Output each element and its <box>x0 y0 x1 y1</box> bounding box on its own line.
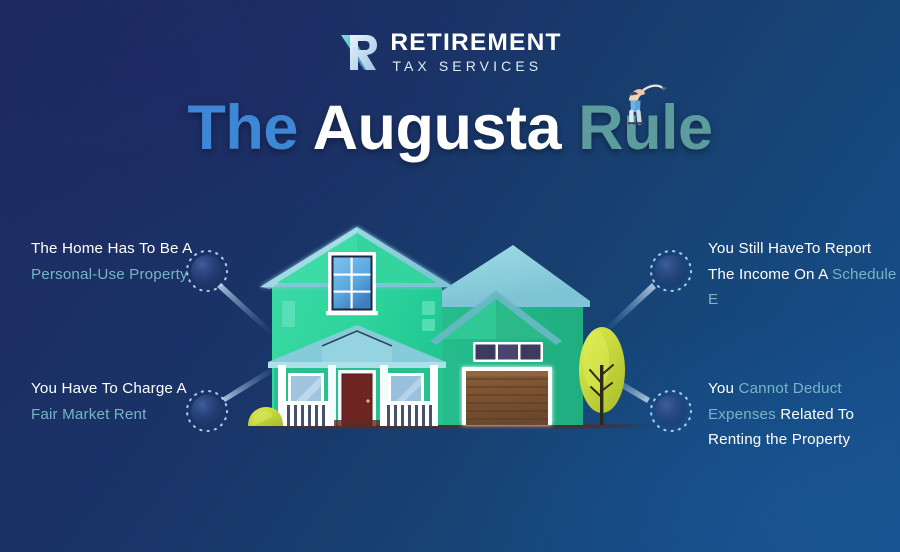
retirement-r-mark-icon <box>338 30 380 74</box>
title-part-the: The <box>187 93 312 163</box>
side-window-right <box>422 301 435 315</box>
infographic-poster: RETIREMENT TAX SERVICES The Augusta Rule <box>0 0 900 552</box>
callout-text-plain: The Home Has To Be A <box>31 240 192 257</box>
garage-transom-window <box>473 342 543 362</box>
picket-fence-right <box>382 401 434 426</box>
tree <box>579 327 625 425</box>
title-part-augusta: Augusta <box>313 93 579 163</box>
front-door <box>338 370 376 426</box>
callout-text-highlight: Personal-Use Property <box>31 266 188 283</box>
suburban-house-illustration <box>230 215 670 460</box>
page-title: The Augusta Rule <box>0 92 900 164</box>
garage-wing-roof <box>426 245 590 301</box>
upper-window <box>326 252 378 315</box>
callout-fair-market-rent: You Have To Charge A Fair Market Rent <box>31 376 206 427</box>
golfer-swing-icon <box>613 79 669 125</box>
garage-door <box>462 367 552 425</box>
callout-text-highlight: Fair Market Rent <box>31 406 147 423</box>
callout-text-plain: You <box>708 380 738 397</box>
callout-personal-use-property: The Home Has To Be A Personal-Use Proper… <box>31 236 211 287</box>
attic-vent-window <box>282 301 295 327</box>
brand-tagline: TAX SERVICES <box>390 59 561 73</box>
picket-fence-left <box>282 401 330 426</box>
callout-text-plain: You Have To Charge A <box>31 380 186 397</box>
callout-report-income-schedule-e: You Still HaveTo Report The Income On A … <box>708 236 898 313</box>
side-window-right-2 <box>422 319 435 331</box>
callout-cannot-deduct-expenses: You Cannot Deduct Expenses Related To Re… <box>708 376 893 453</box>
brand-logo: RETIREMENT TAX SERVICES <box>0 30 900 74</box>
brand-name: RETIREMENT <box>390 31 561 56</box>
